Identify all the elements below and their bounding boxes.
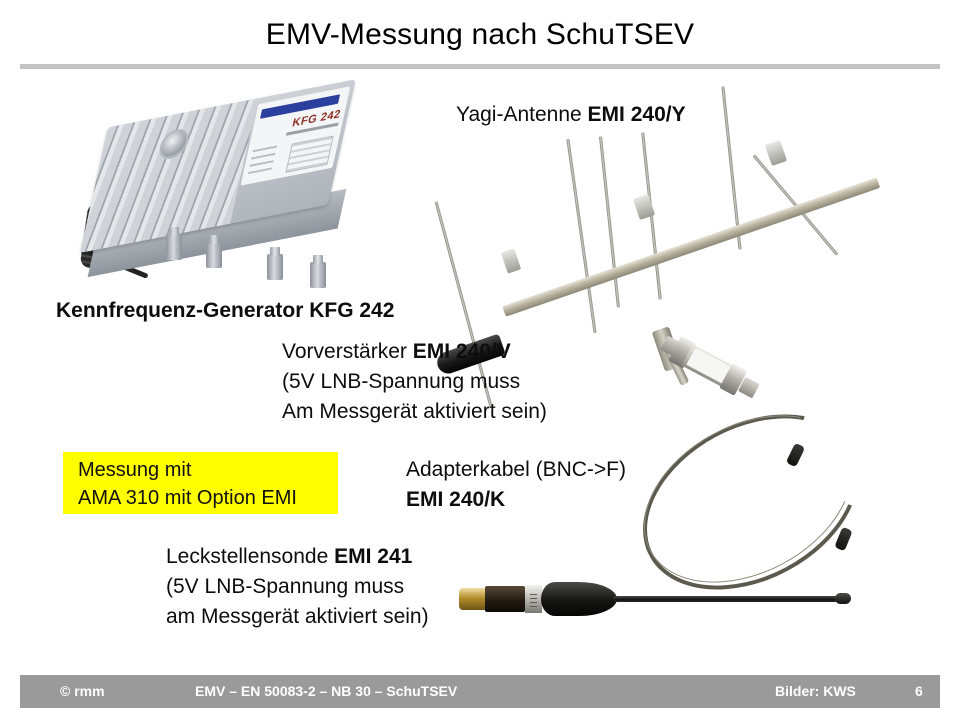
f-connector-1-icon [166,234,182,260]
image-preamplifier-emi-240v: ECTRO MI 240/V [650,338,770,410]
generator-dip-switch-block [285,135,333,172]
generator-led-row [248,144,278,174]
image-leak-probe-emi-241 [455,572,875,632]
label-adapter-plain: Adapterkabel (BNC->F) [406,458,626,481]
label-probe-note-2: am Messgerät aktiviert sein) [166,605,429,628]
footer-image-credit: Bilder: KWS [775,683,856,699]
highlight-box-measurement: Messung mitAMA 310 mit Option EMI [63,452,338,514]
label-preamplifier: Vorverstärker EMI 240/V(5V LNB-Spannung … [282,337,547,427]
label-preamp-note-1: (5V LNB-Spannung muss [282,370,520,393]
probe-body [541,582,617,616]
label-yagi-antenna: Yagi-Antenne EMI 240/Y [456,100,686,130]
highlight-line-2: AMA 310 mit Option EMI [78,487,297,509]
yagi-clamp-1 [501,248,521,273]
preamp-body-group: ECTRO MI 240/V [658,331,762,403]
yagi-element-driven [566,139,596,334]
footer-copyright: © rmm [60,683,105,699]
label-yagi-model: EMI 240/Y [588,103,686,126]
f-connector-3-icon [267,254,283,280]
f-connector-2-icon [206,242,222,268]
probe-label-ring [525,585,542,613]
footer-bar: © rmm EMV – EN 50083-2 – NB 30 – SchuTSE… [20,675,940,708]
image-kfg-242-generator: KFG 242 [62,96,382,296]
label-preamp-plain: Vorverstärker [282,340,413,363]
label-adapter-model: EMI 240/K [406,488,505,511]
label-yagi-plain: Yagi-Antenne [456,103,588,126]
probe-sleeve [485,586,525,612]
highlight-box-text: Messung mitAMA 310 mit Option EMI [78,456,297,512]
yagi-boom [502,177,880,316]
label-preamp-model: EMI 240/V [413,340,511,363]
yagi-clamp-3 [765,140,787,166]
label-preamp-note-2: Am Messgerät aktiviert sein) [282,400,547,423]
label-probe-plain: Leckstellensonde [166,545,334,568]
f-connector-4-icon [310,262,326,288]
label-adapter-cable: Adapterkabel (BNC->F)EMI 240/K [406,455,626,515]
title-divider [20,64,940,69]
probe-whip-rod [613,596,843,602]
highlight-line-1: Messung mit [78,459,191,481]
label-leak-probe: Leckstellensonde EMI 241(5V LNB-Spannung… [166,542,429,632]
footer-page-number: 6 [915,683,923,699]
label-probe-model: EMI 241 [334,545,412,568]
label-probe-note-1: (5V LNB-Spannung muss [166,575,404,598]
image-adapter-cable-emi-240k [620,418,890,588]
probe-tip [835,593,851,604]
label-kennfrequenz-generator: Kennfrequenz-Generator KFG 242 [56,296,394,326]
page-title: EMV-Messung nach SchuTSEV [0,18,960,52]
footer-standard-reference: EMV – EN 50083-2 – NB 30 – SchuTSEV [195,683,457,699]
